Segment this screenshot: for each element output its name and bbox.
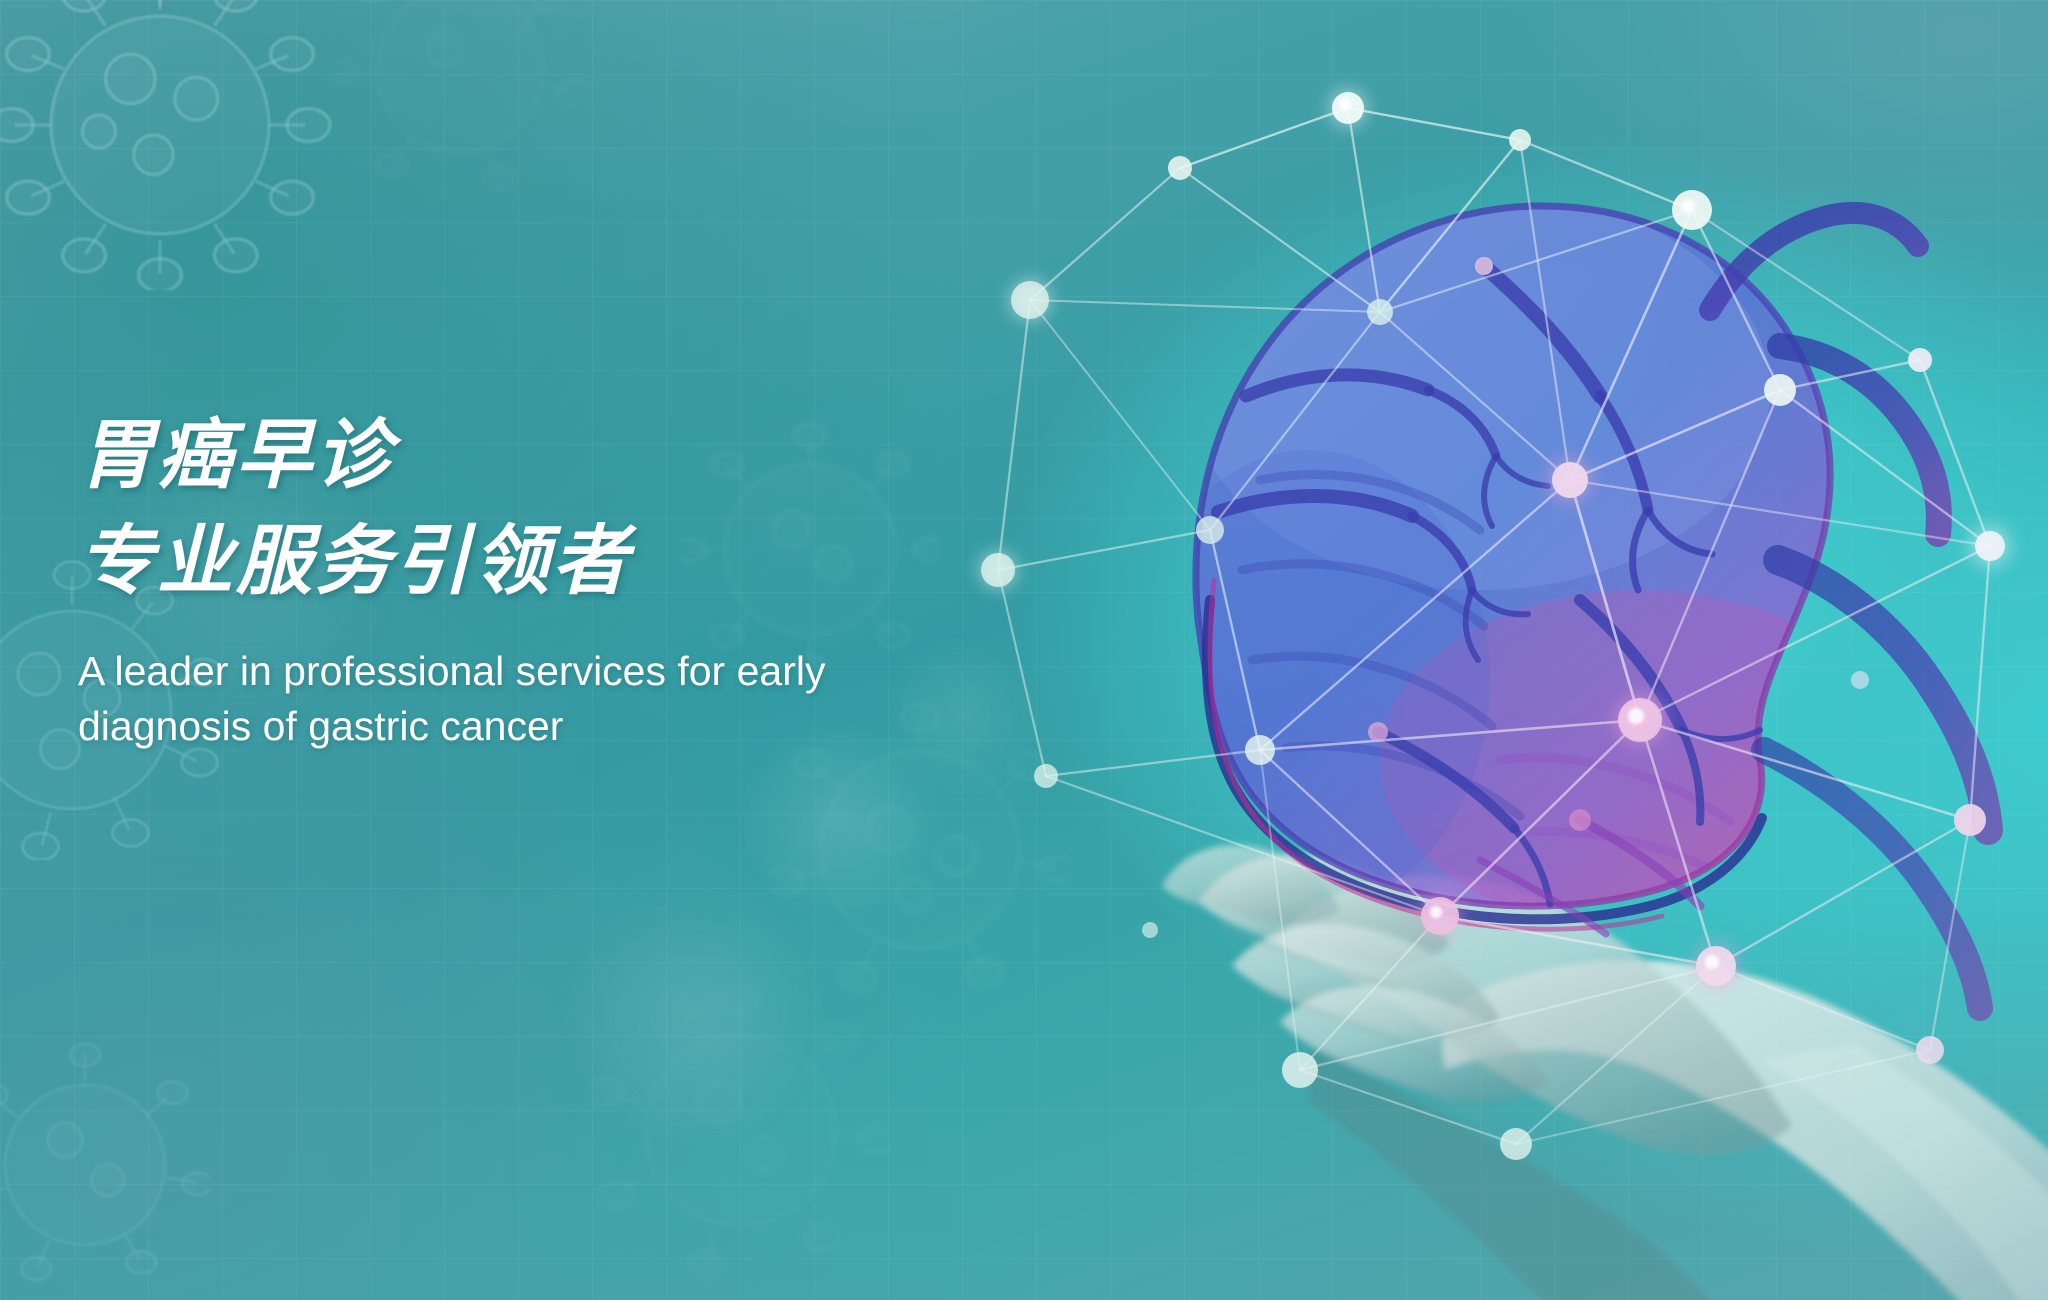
virus-particle-icon [0,1040,210,1290]
stomach-network-illustration [880,60,2048,1300]
virus-particle-icon [0,0,350,290]
virus-particle-icon [590,980,890,1280]
headline-line-1: 胃癌早诊 [78,418,998,494]
subtitle-text: A leader in professional services for ea… [78,644,998,754]
banner-hero: 胃癌早诊 专业服务引领者 A leader in professional se… [0,0,2048,1300]
hero-copy-block: 胃癌早诊 专业服务引领者 A leader in professional se… [78,418,998,754]
headline-line-2: 专业服务引领者 [78,524,998,600]
virus-particle-icon [330,0,590,200]
